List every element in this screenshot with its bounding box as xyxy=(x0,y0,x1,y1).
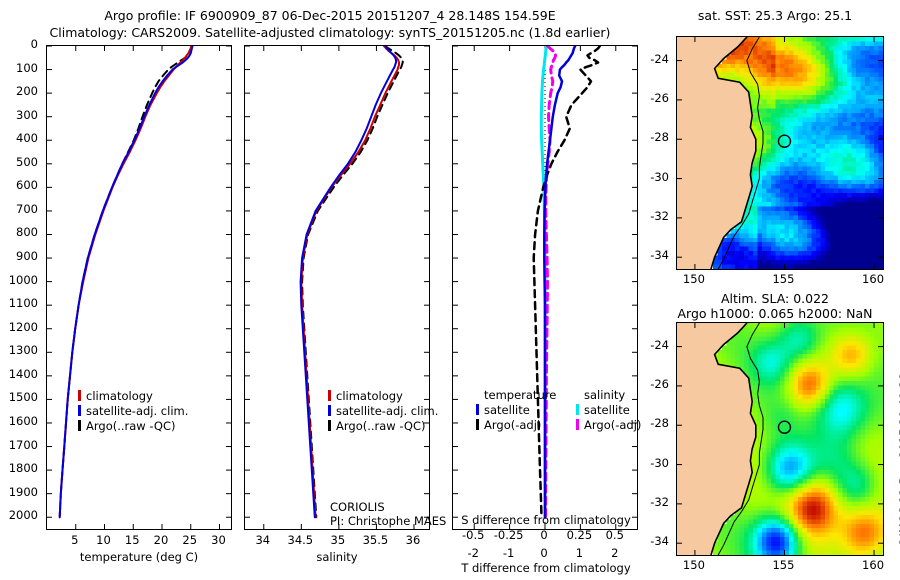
axis-tick-label: 25 xyxy=(182,533,197,547)
annotation-coriolis: CORIOLIS xyxy=(330,500,385,514)
legend-label: Argo(-adj) xyxy=(584,418,641,432)
legend-item: satellite-adj. clim. xyxy=(328,403,438,418)
legend-item: satellite xyxy=(576,402,641,417)
legend-label: satellite xyxy=(484,403,530,417)
map-lon-tick-label: 150 xyxy=(683,558,705,572)
legend-swatch-icon xyxy=(328,405,331,416)
panel-difference[interactable] xyxy=(452,45,638,530)
axis-tick-label: 5 xyxy=(71,533,78,547)
argo-profile-figure: Argo profile: IF 6900909_87 06-Dec-2015 … xyxy=(0,0,900,580)
legend-label: climatology xyxy=(336,389,403,403)
map-lon-tick-label: 155 xyxy=(772,272,794,286)
depth-tick-label: 1300 xyxy=(9,343,38,357)
map-lat-tick-label: -28 xyxy=(650,130,669,144)
salinity-axis-label: salinity xyxy=(244,550,430,564)
map-sst-title: sat. SST: 25.3 Argo: 25.1 xyxy=(650,8,900,23)
depth-tick-label: 2000 xyxy=(9,508,38,522)
legend-label: Argo(-adj) xyxy=(484,418,541,432)
legend-swatch-icon xyxy=(576,404,579,415)
map-lat-tick-label: -24 xyxy=(650,338,669,352)
temperature-axis-label: temperature (deg C) xyxy=(46,550,232,564)
legend-item: satellite xyxy=(476,402,556,417)
depth-tick-label: 100 xyxy=(16,61,38,75)
depth-tick-label: 1900 xyxy=(9,485,38,499)
map-lat-tick-label: -32 xyxy=(650,209,669,223)
map-lon-tick-label: 160 xyxy=(862,272,884,286)
depth-tick-label: 800 xyxy=(16,225,38,239)
legend-heading-temperature: temperature xyxy=(484,388,556,402)
map-sla[interactable] xyxy=(676,322,884,556)
map-lat-tick-label: -28 xyxy=(650,416,669,430)
legend-item: Argo(-adj) xyxy=(476,417,556,432)
temperature-xticks: 51015202530 xyxy=(46,533,232,549)
depth-tick-label: 0 xyxy=(31,37,38,51)
legend-swatch-icon xyxy=(78,420,81,431)
map-sla-title-line1: Altim. SLA: 0.022 xyxy=(650,291,900,306)
axis-tick-label: -0.25 xyxy=(494,528,524,542)
axis-tick-label: 1 xyxy=(576,546,583,560)
legend-swatch-icon xyxy=(576,419,579,430)
legend-item: Argo(-adj) xyxy=(576,417,641,432)
map-sla-lon-axis: 150155160 xyxy=(676,558,884,574)
legend-label: satellite-adj. clim. xyxy=(86,404,188,418)
legend-label: satellite xyxy=(584,403,630,417)
map-lat-tick-label: -30 xyxy=(650,170,669,184)
depth-tick-label: 1200 xyxy=(9,320,38,334)
legend-swatch-icon xyxy=(476,404,479,415)
map-lat-tick-label: -26 xyxy=(650,91,669,105)
depth-tick-label: 200 xyxy=(16,84,38,98)
map-lon-tick-label: 160 xyxy=(862,558,884,572)
depth-tick-label: 700 xyxy=(16,202,38,216)
depth-tick-label: 1100 xyxy=(9,296,38,310)
legend-difference-temperature: temperature satelliteArgo(-adj) xyxy=(476,388,556,432)
legend-item: Argo(..raw -QC) xyxy=(78,418,188,433)
axis-tick-label: 10 xyxy=(96,533,111,547)
legend-swatch-icon xyxy=(476,419,479,430)
axis-tick-label: 35.5 xyxy=(363,533,389,547)
axis-tick-label: 15 xyxy=(125,533,140,547)
axis-tick-label: 2 xyxy=(611,546,618,560)
axis-tick-label: 36 xyxy=(406,533,421,547)
map-sst-lon-axis: 150155160 xyxy=(676,272,884,288)
axis-tick-label: -0.5 xyxy=(462,528,484,542)
legend-swatch-icon xyxy=(78,405,81,416)
axis-tick-label: 0.25 xyxy=(567,528,593,542)
annotation-pi: PI: Christophe MAES xyxy=(330,514,446,528)
legend-item: Argo(..raw -QC) xyxy=(328,418,438,433)
figure-title-line1: Argo profile: IF 6900909_87 06-Dec-2015 … xyxy=(0,8,660,23)
map-lon-tick-label: 150 xyxy=(683,272,705,286)
legend-swatch-icon xyxy=(328,420,331,431)
panel-salinity[interactable] xyxy=(244,45,430,530)
legend-salinity-panel: climatologysatellite-adj. clim.Argo(..ra… xyxy=(328,388,438,433)
difference-t-axis-label: T difference from climatology xyxy=(448,561,644,575)
depth-tick-label: 600 xyxy=(16,178,38,192)
axis-tick-label: -1 xyxy=(503,546,514,560)
map-lat-tick-label: -24 xyxy=(650,52,669,66)
map-lat-tick-label: -32 xyxy=(650,495,669,509)
map-sst-lat-axis: -24-26-28-30-32-34 xyxy=(636,36,674,270)
depth-tick-label: 300 xyxy=(16,108,38,122)
panel-temperature[interactable] xyxy=(46,45,232,530)
depth-tick-label: 1700 xyxy=(9,438,38,452)
map-lat-tick-label: -34 xyxy=(650,248,669,262)
legend-item: climatology xyxy=(328,388,438,403)
map-sla-title-line2: Argo h1000: 0.065 h2000: NaN xyxy=(650,306,900,321)
map-lat-tick-label: -30 xyxy=(650,456,669,470)
map-sst[interactable] xyxy=(676,36,884,270)
axis-tick-label: 34.5 xyxy=(288,533,314,547)
difference-s-axis-label: S difference from climatology xyxy=(448,513,644,527)
legend-swatch-icon xyxy=(78,390,81,401)
legend-label: climatology xyxy=(86,389,153,403)
depth-tick-label: 1600 xyxy=(9,414,38,428)
axis-tick-label: 35 xyxy=(331,533,346,547)
depth-tick-label: 400 xyxy=(16,131,38,145)
axis-tick-label: 30 xyxy=(211,533,226,547)
legend-label: Argo(..raw -QC) xyxy=(86,419,176,433)
depth-tick-label: 1800 xyxy=(9,461,38,475)
legend-heading-salinity: salinity xyxy=(584,388,641,402)
map-lon-tick-label: 155 xyxy=(772,558,794,572)
axis-tick-label: 0 xyxy=(540,528,547,542)
map-sla-lat-axis: -24-26-28-30-32-34 xyxy=(636,322,674,556)
depth-axis-left: 0100200300400500600700800900100011001200… xyxy=(0,45,42,530)
legend-swatch-icon xyxy=(328,390,331,401)
depth-tick-label: 900 xyxy=(16,249,38,263)
depth-tick-label: 1400 xyxy=(9,367,38,381)
legend-item: climatology xyxy=(78,388,188,403)
legend-label: satellite-adj. clim. xyxy=(336,404,438,418)
map-lat-tick-label: -26 xyxy=(650,377,669,391)
map-lat-tick-label: -34 xyxy=(650,534,669,548)
legend-temperature-panel: climatologysatellite-adj. clim.Argo(..ra… xyxy=(78,388,188,433)
depth-tick-label: 1500 xyxy=(9,390,38,404)
legend-difference-salinity: salinity satelliteArgo(-adj) xyxy=(576,388,641,432)
difference-t-xticks: -2-1012 xyxy=(452,546,638,560)
axis-tick-label: 34 xyxy=(255,533,270,547)
salinity-xticks: 3434.53535.536 xyxy=(244,533,430,549)
difference-s-xticks: -0.5-0.2500.250.5 xyxy=(452,528,638,542)
depth-tick-label: 500 xyxy=(16,155,38,169)
axis-tick-label: -2 xyxy=(467,546,478,560)
axis-tick-label: 0.5 xyxy=(606,528,624,542)
depth-tick-label: 1000 xyxy=(9,273,38,287)
axis-tick-label: 0 xyxy=(540,546,547,560)
legend-item: satellite-adj. clim. xyxy=(78,403,188,418)
axis-tick-label: 20 xyxy=(154,533,169,547)
legend-label: Argo(..raw -QC) xyxy=(336,419,426,433)
figure-title-line2: Climatology: CARS2009. Satellite-adjuste… xyxy=(0,25,660,40)
